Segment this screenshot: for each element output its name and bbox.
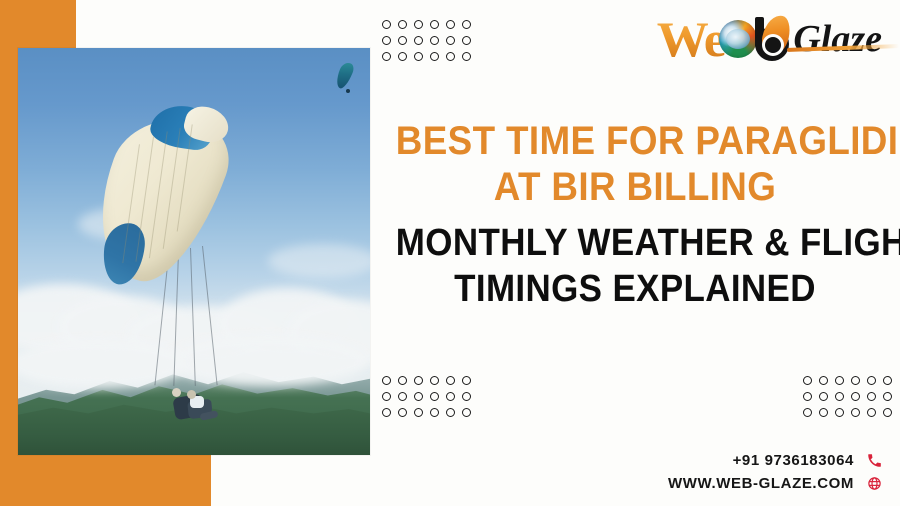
photo-cloud bbox=[268, 244, 370, 278]
dot bbox=[462, 52, 471, 61]
dot bbox=[446, 36, 455, 45]
dot bbox=[446, 20, 455, 29]
dot bbox=[414, 376, 423, 385]
dot bbox=[803, 392, 812, 401]
dot bbox=[867, 392, 876, 401]
dot bbox=[398, 408, 407, 417]
dot bbox=[803, 376, 812, 385]
dot bbox=[819, 392, 828, 401]
dot bbox=[462, 392, 471, 401]
dot bbox=[398, 36, 407, 45]
dot bbox=[462, 36, 471, 45]
dot bbox=[414, 392, 423, 401]
dot-grid-top-left bbox=[382, 20, 478, 61]
dot bbox=[851, 392, 860, 401]
dot bbox=[382, 36, 391, 45]
paraglider-canopy bbox=[87, 99, 245, 293]
dot bbox=[430, 52, 439, 61]
dot bbox=[835, 392, 844, 401]
poster-canvas: We Glaze BEST TIME FOR PARAGLIDING AT BI… bbox=[0, 0, 900, 506]
dot bbox=[414, 36, 423, 45]
dot bbox=[446, 408, 455, 417]
dot bbox=[819, 376, 828, 385]
dot-grid-bottom-left bbox=[382, 376, 478, 417]
dot bbox=[883, 392, 892, 401]
dot bbox=[398, 20, 407, 29]
contact-phone-row[interactable]: +91 9736183064 bbox=[733, 452, 882, 469]
hero-paragliding-photo bbox=[18, 48, 370, 455]
headline-line-3: MONTHLY WEATHER & FLIGHT bbox=[396, 220, 874, 266]
dot bbox=[382, 52, 391, 61]
contact-website-row[interactable]: WWW.WEB-GLAZE.COM bbox=[668, 475, 882, 492]
globe-icon bbox=[866, 476, 882, 492]
website-url: WWW.WEB-GLAZE.COM bbox=[668, 475, 854, 492]
dot bbox=[851, 408, 860, 417]
dot bbox=[398, 376, 407, 385]
dot bbox=[382, 376, 391, 385]
dot-grid-bottom-right bbox=[803, 376, 899, 417]
dot bbox=[430, 392, 439, 401]
dot bbox=[867, 376, 876, 385]
dot bbox=[819, 408, 828, 417]
dot bbox=[430, 36, 439, 45]
headline-line-2: AT BIR BILLING bbox=[396, 164, 874, 210]
dot bbox=[462, 20, 471, 29]
dot bbox=[462, 408, 471, 417]
dot bbox=[398, 392, 407, 401]
dot bbox=[835, 376, 844, 385]
logo-letter-b-mark bbox=[751, 17, 791, 61]
dot bbox=[446, 392, 455, 401]
headline-line-1: BEST TIME FOR PARAGLIDING bbox=[396, 118, 874, 164]
dot bbox=[462, 376, 471, 385]
orange-accent-bar-bottom bbox=[0, 454, 211, 506]
dot bbox=[446, 52, 455, 61]
dot bbox=[382, 20, 391, 29]
web-glaze-logo[interactable]: We Glaze bbox=[658, 10, 882, 68]
logo-text-we: We bbox=[657, 14, 725, 64]
dot bbox=[867, 408, 876, 417]
dot bbox=[430, 408, 439, 417]
dot bbox=[382, 408, 391, 417]
distant-pilot bbox=[346, 89, 350, 93]
photo-cloud bbox=[168, 336, 368, 386]
dot bbox=[382, 392, 391, 401]
dot bbox=[414, 408, 423, 417]
headline-line-4: TIMINGS EXPLAINED bbox=[396, 266, 874, 312]
contact-block: +91 9736183064 WWW.WEB-GLAZE.COM bbox=[668, 452, 882, 492]
logo-web-group: We bbox=[658, 12, 791, 66]
dot bbox=[430, 20, 439, 29]
dot bbox=[835, 408, 844, 417]
dot bbox=[883, 408, 892, 417]
phone-number: +91 9736183064 bbox=[733, 452, 854, 469]
headline-spacer bbox=[375, 210, 895, 220]
dot bbox=[446, 376, 455, 385]
distant-canopy bbox=[333, 61, 355, 91]
dot bbox=[414, 20, 423, 29]
dot bbox=[883, 376, 892, 385]
dot bbox=[851, 376, 860, 385]
dot bbox=[414, 52, 423, 61]
dot bbox=[430, 376, 439, 385]
phone-icon bbox=[866, 453, 882, 469]
logo-glaze-label: Glaze bbox=[793, 18, 882, 60]
logo-text-glaze: Glaze bbox=[793, 20, 882, 58]
page-title: BEST TIME FOR PARAGLIDING AT BIR BILLING… bbox=[375, 118, 895, 312]
dot bbox=[398, 52, 407, 61]
pilot-helmet bbox=[172, 388, 181, 397]
dot bbox=[803, 408, 812, 417]
passenger-helmet bbox=[187, 390, 196, 399]
distant-paraglider bbox=[336, 62, 356, 94]
tandem-pilots bbox=[170, 382, 218, 426]
